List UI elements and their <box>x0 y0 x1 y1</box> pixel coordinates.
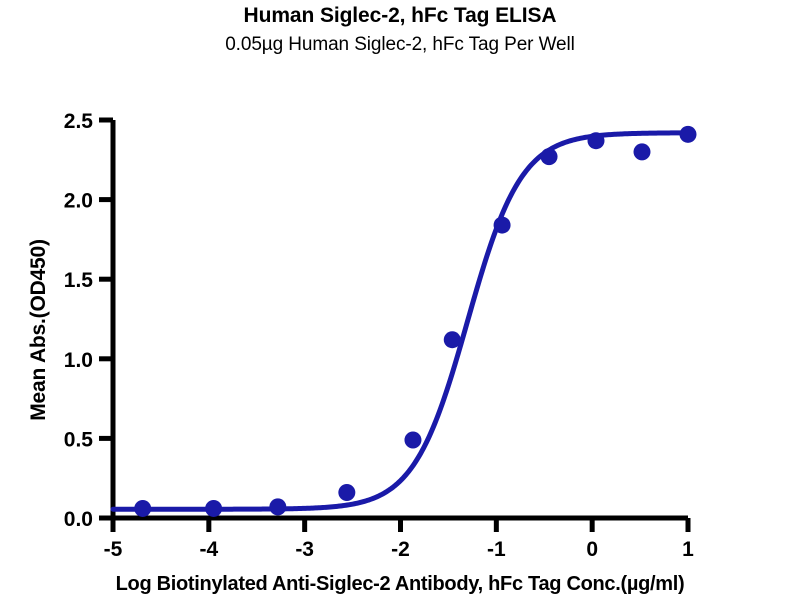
y-tick-label: 2.5 <box>64 110 94 133</box>
data-point-marker <box>588 132 605 149</box>
data-point-marker <box>444 331 461 348</box>
x-tick-label: 0 <box>586 538 598 561</box>
fit-curve <box>113 133 688 509</box>
y-tick-label: 0.0 <box>64 508 93 531</box>
data-point-marker <box>541 148 558 165</box>
y-tick-label: 2.0 <box>64 190 93 213</box>
sigmoid-fit-line <box>113 133 688 509</box>
y-tick-label: 0.5 <box>64 428 94 451</box>
axis-ticks <box>99 120 688 532</box>
x-tick-label: -3 <box>295 538 314 561</box>
x-tick-label: -4 <box>199 538 218 561</box>
data-point-marker <box>134 500 151 517</box>
data-point-marker <box>494 217 511 234</box>
data-point-marker <box>269 498 286 515</box>
x-tick-label: -1 <box>487 538 506 561</box>
y-tick-label: 1.0 <box>64 349 93 372</box>
data-point-marker <box>404 431 421 448</box>
plot-area: 0.00.51.01.52.02.5-5-4-3-2-101 <box>0 0 800 600</box>
data-point-marker <box>205 500 222 517</box>
data-point-marker <box>338 484 355 501</box>
axes <box>113 120 688 518</box>
x-tick-label: 1 <box>682 538 694 561</box>
elisa-chart-figure: Human Siglec-2, hFc Tag ELISA 0.05µg Hum… <box>0 0 800 600</box>
y-tick-label: 1.5 <box>64 269 94 292</box>
data-point-marker <box>634 143 651 160</box>
x-tick-label: -2 <box>391 538 410 561</box>
x-tick-label: -5 <box>104 538 123 561</box>
data-point-marker <box>680 126 697 143</box>
